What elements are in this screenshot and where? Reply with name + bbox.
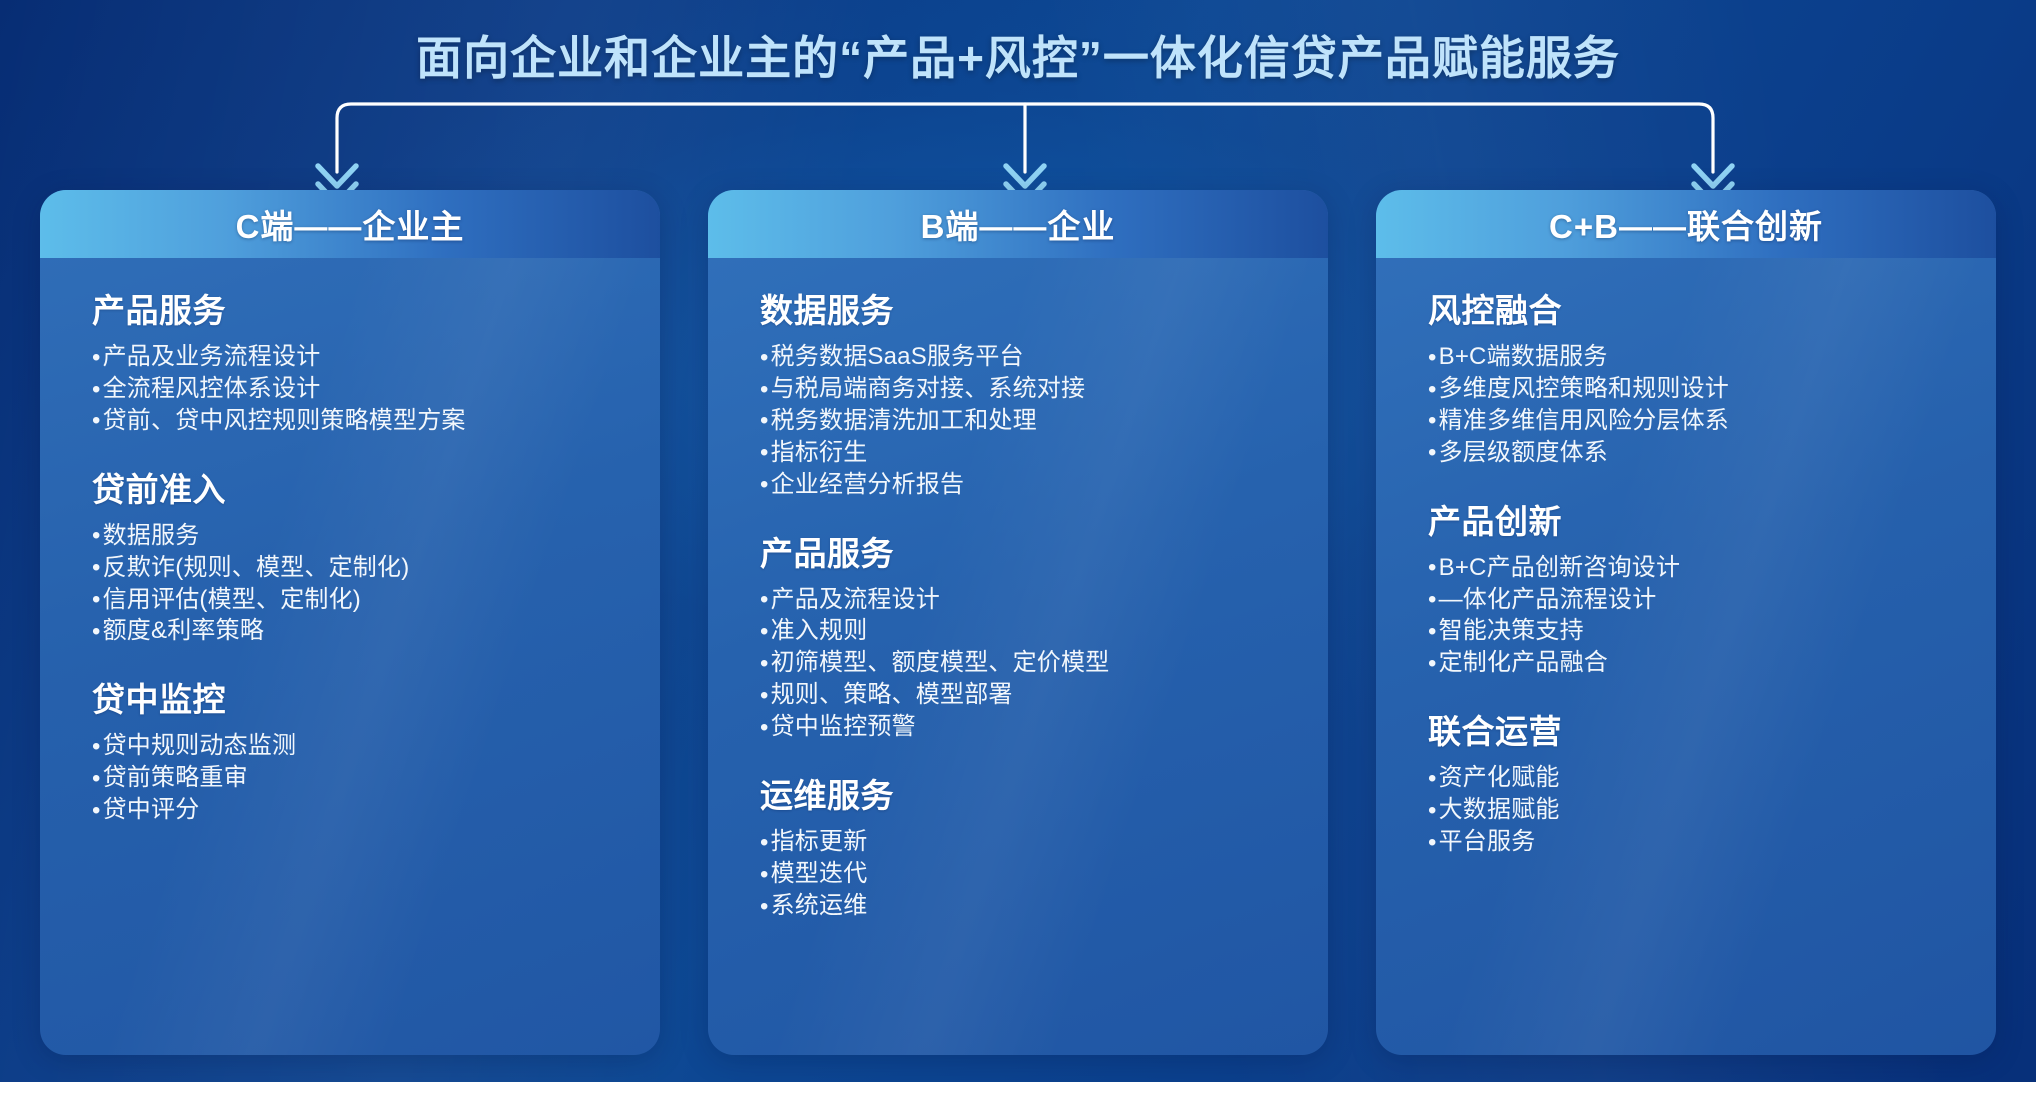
section-block: 运维服务 •指标更新 •模型迭代 •系统运维	[760, 769, 1294, 922]
bullet-dot-icon: •	[92, 524, 101, 548]
section-block: 贷前准入 •数据服务 •反欺诈(规则、模型、定制化) •信用评估(模型、定制化)…	[92, 463, 626, 648]
list-item-label: B+C产品创新咨询设计	[1439, 554, 1681, 581]
section-title: 运维服务	[760, 769, 1294, 817]
bullet-dot-icon: •	[760, 716, 769, 740]
list-item-label: 平台服务	[1439, 828, 1536, 855]
bullet-dot-icon: •	[1428, 652, 1437, 676]
list-item-label: 税务数据清洗加工和处理	[771, 407, 1037, 434]
column-header-label: C+B——联合创新	[1549, 200, 1823, 248]
list-item: •平台服务	[1428, 826, 1962, 858]
list-item: •模型迭代	[760, 858, 1294, 890]
list-item-label: B+C端数据服务	[1439, 343, 1608, 370]
list-item: •智能决策支持	[1428, 615, 1962, 647]
column-body: 产品服务 •产品及业务流程设计 •全流程风控体系设计 •贷前、贷中风控规则策略模…	[40, 258, 660, 826]
list-item: •产品及流程设计	[760, 584, 1294, 616]
bullet-dot-icon: •	[760, 346, 769, 370]
bullet-dot-icon: •	[1428, 831, 1437, 855]
list-item-label: 模型迭代	[771, 860, 868, 887]
bullet-dot-icon: •	[92, 346, 101, 370]
bullet-dot-icon: •	[1428, 441, 1437, 465]
list-item: •全流程风控体系设计	[92, 373, 626, 405]
list-item: •贷前、贷中风控规则策略模型方案	[92, 405, 626, 437]
column-body: 风控融合 •B+C端数据服务 •多维度风控策略和规则设计 •精准多维信用风险分层…	[1376, 258, 1996, 858]
column-header-label: B端——企业	[921, 200, 1116, 248]
section-block: 产品服务 •产品及流程设计 •准入规则 •初筛模型、额度模型、定价模型 •规则、…	[760, 527, 1294, 744]
section-title: 产品创新	[1428, 495, 1962, 543]
column-header: C+B——联合创新	[1376, 190, 1996, 258]
list-item-label: 产品及业务流程设计	[103, 343, 321, 370]
bullet-dot-icon: •	[92, 735, 101, 759]
bullet-dot-icon: •	[1428, 378, 1437, 402]
list-item-label: 准入规则	[771, 617, 868, 644]
column-header: C端——企业主	[40, 190, 660, 258]
section-block: 产品服务 •产品及业务流程设计 •全流程风控体系设计 •贷前、贷中风控规则策略模…	[92, 284, 626, 437]
list-item: •额度&利率策略	[92, 615, 626, 647]
list-item: •贷中评分	[92, 794, 626, 826]
column-header-label: C端——企业主	[236, 200, 465, 248]
list-item: •指标衍生	[760, 437, 1294, 469]
bullet-dot-icon: •	[760, 863, 769, 887]
list-item: •多层级额度体系	[1428, 437, 1962, 469]
bullet-dot-icon: •	[1428, 346, 1437, 370]
section-block: 风控融合 •B+C端数据服务 •多维度风控策略和规则设计 •精准多维信用风险分层…	[1428, 284, 1962, 469]
bullet-dot-icon: •	[760, 409, 769, 433]
section-title: 产品服务	[92, 284, 626, 332]
bullet-dot-icon: •	[1428, 588, 1437, 612]
list-item: •与税局端商务对接、系统对接	[760, 373, 1294, 405]
list-item-label: 系统运维	[771, 892, 868, 919]
list-item: •贷中监控预警	[760, 711, 1294, 743]
list-item-label: 贷前、贷中风控规则策略模型方案	[103, 407, 466, 434]
bullet-dot-icon: •	[760, 620, 769, 644]
bullet-dot-icon: •	[760, 831, 769, 855]
list-item: •产品及业务流程设计	[92, 341, 626, 373]
bullet-dot-icon: •	[760, 378, 769, 402]
bullet-dot-icon: •	[92, 620, 101, 644]
list-item-label: 定制化产品融合	[1439, 649, 1608, 676]
page-title: 面向企业和企业主的“产品+风控”一体化信贷产品赋能服务	[0, 22, 2036, 88]
list-item: •系统运维	[760, 890, 1294, 922]
list-item-label: 精准多维信用风险分层体系	[1439, 407, 1729, 434]
column-card-b-end[interactable]: B端——企业 数据服务 •税务数据SaaS服务平台 •与税局端商务对接、系统对接…	[708, 190, 1328, 1055]
bullet-dot-icon: •	[1428, 556, 1437, 580]
bullet-dot-icon: •	[1428, 409, 1437, 433]
bullet-dot-icon: •	[760, 895, 769, 919]
list-item: •税务数据SaaS服务平台	[760, 341, 1294, 373]
list-item-label: 贷前策略重审	[103, 764, 248, 791]
bullet-dot-icon: •	[92, 409, 101, 433]
section-title: 联合运营	[1428, 705, 1962, 753]
list-item: •规则、策略、模型部署	[760, 679, 1294, 711]
column-card-c-end[interactable]: C端——企业主 产品服务 •产品及业务流程设计 •全流程风控体系设计 •贷前、贷…	[40, 190, 660, 1055]
list-item-label: 多维度风控策略和规则设计	[1439, 375, 1729, 402]
list-item-label: 全流程风控体系设计	[103, 375, 321, 402]
list-item-label: 贷中监控预警	[771, 713, 916, 740]
list-item: •信用评估(模型、定制化)	[92, 584, 626, 616]
section-title: 贷中监控	[92, 673, 626, 721]
bullet-dot-icon: •	[760, 588, 769, 612]
bullet-dot-icon: •	[760, 473, 769, 497]
list-item-label: 智能决策支持	[1439, 617, 1584, 644]
bullet-dot-icon: •	[1428, 799, 1437, 823]
bullet-dot-icon: •	[760, 684, 769, 708]
section-title: 数据服务	[760, 284, 1294, 332]
list-item: •精准多维信用风险分层体系	[1428, 405, 1962, 437]
bullet-dot-icon: •	[1428, 767, 1437, 791]
list-item-label: 指标衍生	[771, 439, 868, 466]
list-item: •—体化产品流程设计	[1428, 584, 1962, 616]
list-item-label: 贷中评分	[103, 796, 200, 823]
list-item: •贷中规则动态监测	[92, 730, 626, 762]
section-block: 联合运营 •资产化赋能 •大数据赋能 •平台服务	[1428, 705, 1962, 858]
bullet-dot-icon: •	[92, 588, 101, 612]
list-item: •初筛模型、额度模型、定价模型	[760, 647, 1294, 679]
list-item: •B+C产品创新咨询设计	[1428, 552, 1962, 584]
list-item: •定制化产品融合	[1428, 647, 1962, 679]
list-item-label: 数据服务	[103, 522, 200, 549]
list-item: •资产化赋能	[1428, 762, 1962, 794]
list-item-label: 指标更新	[771, 828, 868, 855]
column-body: 数据服务 •税务数据SaaS服务平台 •与税局端商务对接、系统对接 •税务数据清…	[708, 258, 1328, 922]
section-title: 产品服务	[760, 527, 1294, 575]
list-item: •多维度风控策略和规则设计	[1428, 373, 1962, 405]
list-item: •指标更新	[760, 826, 1294, 858]
section-title: 风控融合	[1428, 284, 1962, 332]
column-card-cb-joint[interactable]: C+B——联合创新 风控融合 •B+C端数据服务 •多维度风控策略和规则设计 •…	[1376, 190, 1996, 1055]
bullet-dot-icon: •	[760, 441, 769, 465]
section-block: 贷中监控 •贷中规则动态监测 •贷前策略重审 •贷中评分	[92, 673, 626, 826]
list-item-label: 企业经营分析报告	[771, 471, 965, 498]
section-block: 数据服务 •税务数据SaaS服务平台 •与税局端商务对接、系统对接 •税务数据清…	[760, 284, 1294, 501]
slide-root: 面向企业和企业主的“产品+风控”一体化信贷产品赋能服务 C端——企业主 产品服务…	[0, 0, 2036, 1110]
list-item-label: 额度&利率策略	[103, 617, 264, 644]
bullet-dot-icon: •	[92, 767, 101, 791]
list-item-label: 规则、策略、模型部署	[771, 681, 1013, 708]
list-item-label: 初筛模型、额度模型、定价模型	[771, 649, 1110, 676]
bullet-dot-icon: •	[92, 799, 101, 823]
bottom-white-strip	[0, 1082, 2036, 1110]
list-item-label: 大数据赋能	[1439, 796, 1560, 823]
list-item-label: 资产化赋能	[1439, 764, 1560, 791]
bullet-dot-icon: •	[760, 652, 769, 676]
bullet-dot-icon: •	[92, 378, 101, 402]
columns-container: C端——企业主 产品服务 •产品及业务流程设计 •全流程风控体系设计 •贷前、贷…	[40, 190, 1996, 1055]
list-item-label: 多层级额度体系	[1439, 439, 1608, 466]
list-item: •准入规则	[760, 615, 1294, 647]
list-item: •贷前策略重审	[92, 762, 626, 794]
list-item: •企业经营分析报告	[760, 469, 1294, 501]
list-item-label: —体化产品流程设计	[1439, 586, 1657, 613]
list-item: •B+C端数据服务	[1428, 341, 1962, 373]
list-item-label: 贷中规则动态监测	[103, 732, 297, 759]
list-item-label: 反欺诈(规则、模型、定制化)	[103, 554, 410, 581]
list-item: •反欺诈(规则、模型、定制化)	[92, 552, 626, 584]
list-item: •大数据赋能	[1428, 794, 1962, 826]
section-title: 贷前准入	[92, 463, 626, 511]
list-item-label: 税务数据SaaS服务平台	[771, 343, 1024, 370]
column-header: B端——企业	[708, 190, 1328, 258]
list-item: •数据服务	[92, 520, 626, 552]
list-item-label: 与税局端商务对接、系统对接	[771, 375, 1086, 402]
list-item: •税务数据清洗加工和处理	[760, 405, 1294, 437]
bullet-dot-icon: •	[1428, 620, 1437, 644]
bullet-dot-icon: •	[92, 556, 101, 580]
list-item-label: 信用评估(模型、定制化)	[103, 586, 361, 613]
connector-diagram	[0, 96, 2036, 204]
section-block: 产品创新 •B+C产品创新咨询设计 •—体化产品流程设计 •智能决策支持 •定制…	[1428, 495, 1962, 680]
list-item-label: 产品及流程设计	[771, 586, 940, 613]
